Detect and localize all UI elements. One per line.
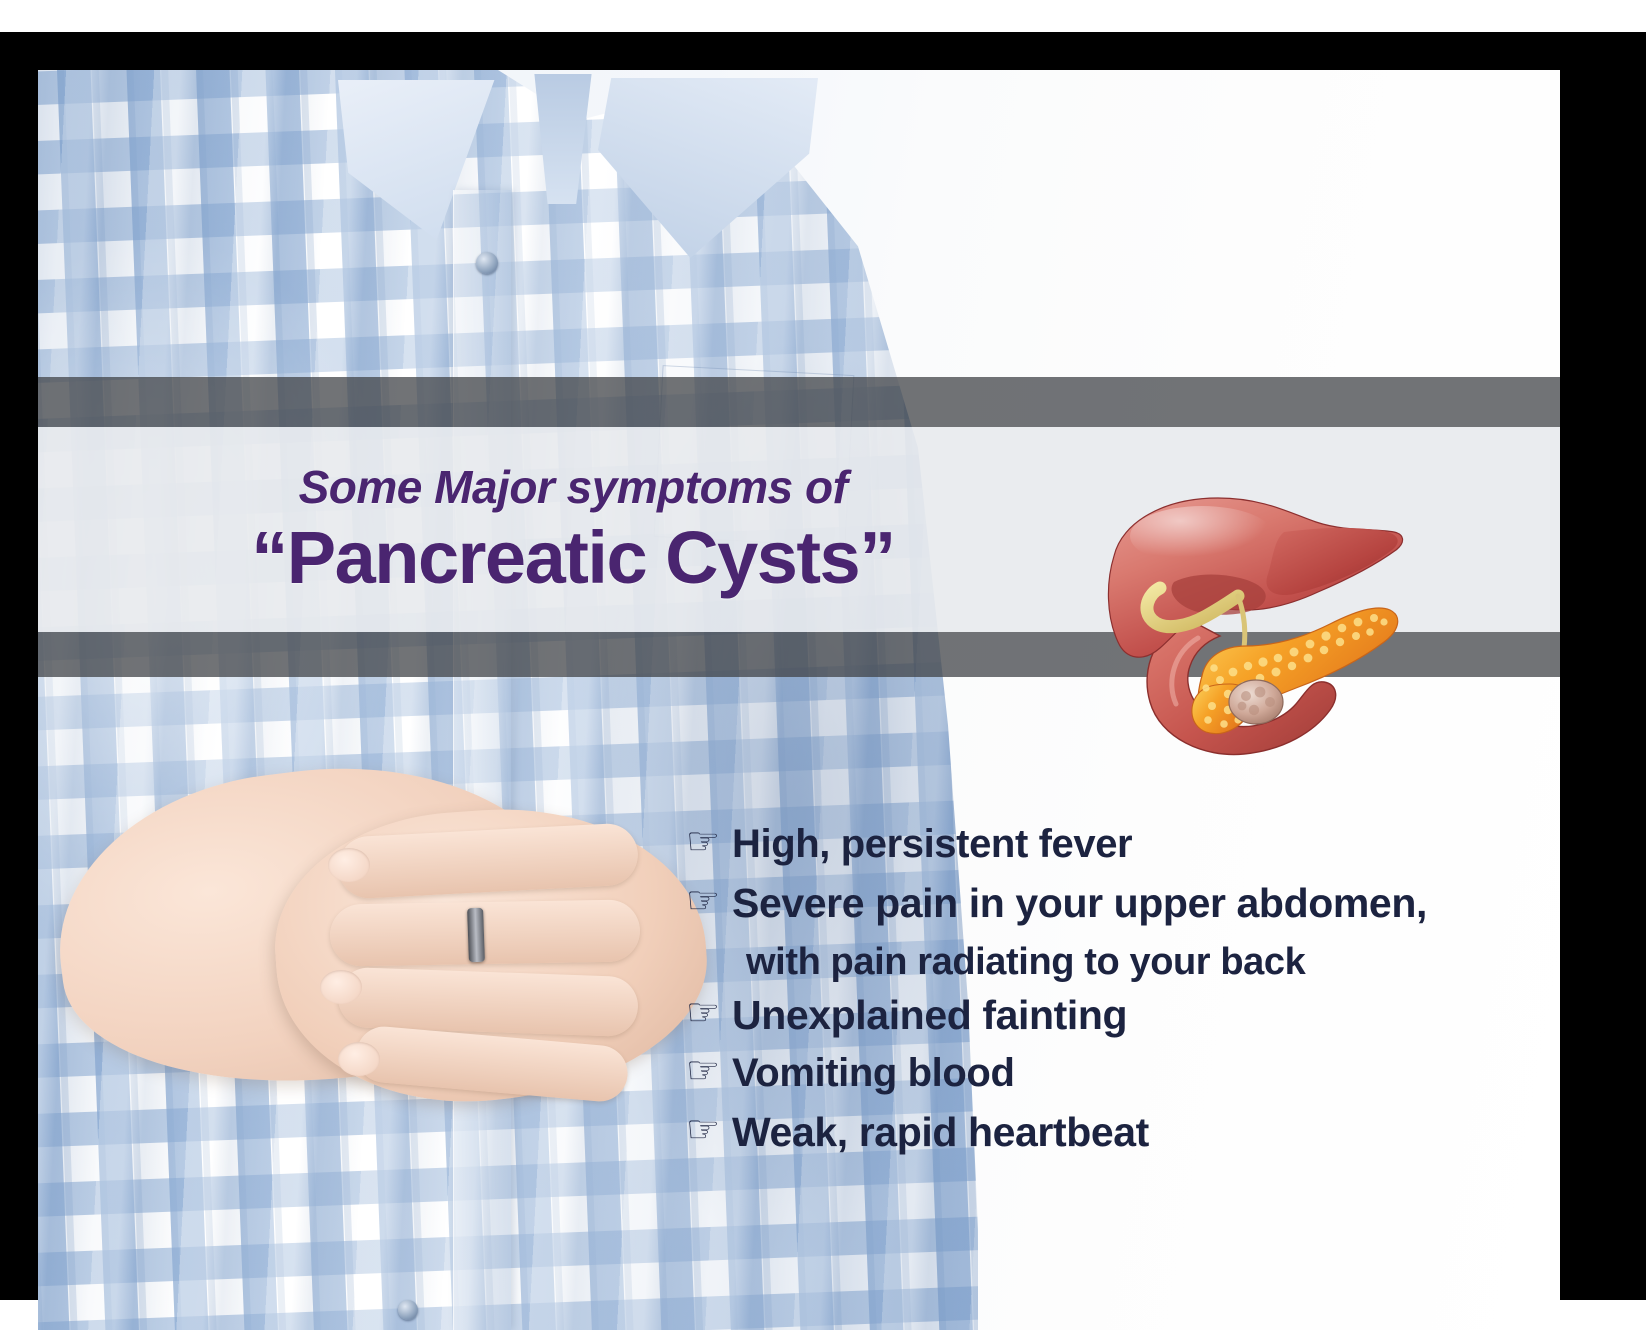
- poster-content: Some Major symptoms of “Pancreatic Cysts…: [38, 70, 1560, 1330]
- thumbs-up-icon: ☞: [686, 1110, 732, 1151]
- fingernail-3: [338, 1042, 380, 1076]
- symptom-text-continuation: with pain radiating to your back: [746, 941, 1546, 984]
- symptom-item-heartbeat: ☞ Weak, rapid heartbeat: [686, 1110, 1546, 1156]
- anatomy-svg: [1078, 470, 1408, 770]
- symptom-text: Vomiting blood: [732, 1051, 1015, 1096]
- liver-pancreas-illustration: [1078, 470, 1408, 770]
- liver-highlight: [1130, 506, 1274, 566]
- finger-ring-band: [467, 908, 485, 963]
- symptom-item-fever: ☞ High, persistent fever: [686, 822, 1546, 867]
- thumbs-up-icon: ☞: [686, 1051, 732, 1092]
- poster-page: Some Major symptoms of “Pancreatic Cysts…: [0, 0, 1646, 1344]
- symptom-item-vomiting-blood: ☞ Vomiting blood: [686, 1051, 1546, 1096]
- shirt-button-bottom: [398, 1300, 418, 1320]
- symptom-text: High, persistent fever: [732, 822, 1132, 867]
- symptom-list: ☞ High, persistent fever ☞ Severe pain i…: [686, 822, 1546, 1160]
- shirt-button-top: [476, 252, 498, 274]
- thumbs-up-icon: ☞: [686, 822, 732, 863]
- thumbs-up-icon: ☞: [686, 993, 732, 1034]
- poster-subtitle: Some Major symptoms of: [299, 464, 848, 510]
- fingernail-1: [328, 848, 370, 882]
- symptom-text: Severe pain in your upper abdomen,: [732, 881, 1427, 927]
- symptom-text: Unexplained fainting: [732, 993, 1127, 1039]
- symptom-item-abdominal-pain: ☞ Severe pain in your upper abdomen,: [686, 881, 1546, 927]
- symptom-text: Weak, rapid heartbeat: [732, 1110, 1149, 1156]
- banner-dark-band-top: [38, 377, 1560, 427]
- fingernail-2: [320, 970, 362, 1004]
- poster-frame: Some Major symptoms of “Pancreatic Cysts…: [0, 32, 1646, 1300]
- shirt-placket: [453, 190, 511, 1330]
- poster-title: “Pancreatic Cysts”: [251, 520, 894, 595]
- finger-middle: [329, 899, 640, 966]
- title-block: Some Major symptoms of “Pancreatic Cysts…: [38, 427, 1108, 632]
- thumbs-up-icon: ☞: [686, 881, 732, 922]
- symptom-item-fainting: ☞ Unexplained fainting: [686, 993, 1546, 1039]
